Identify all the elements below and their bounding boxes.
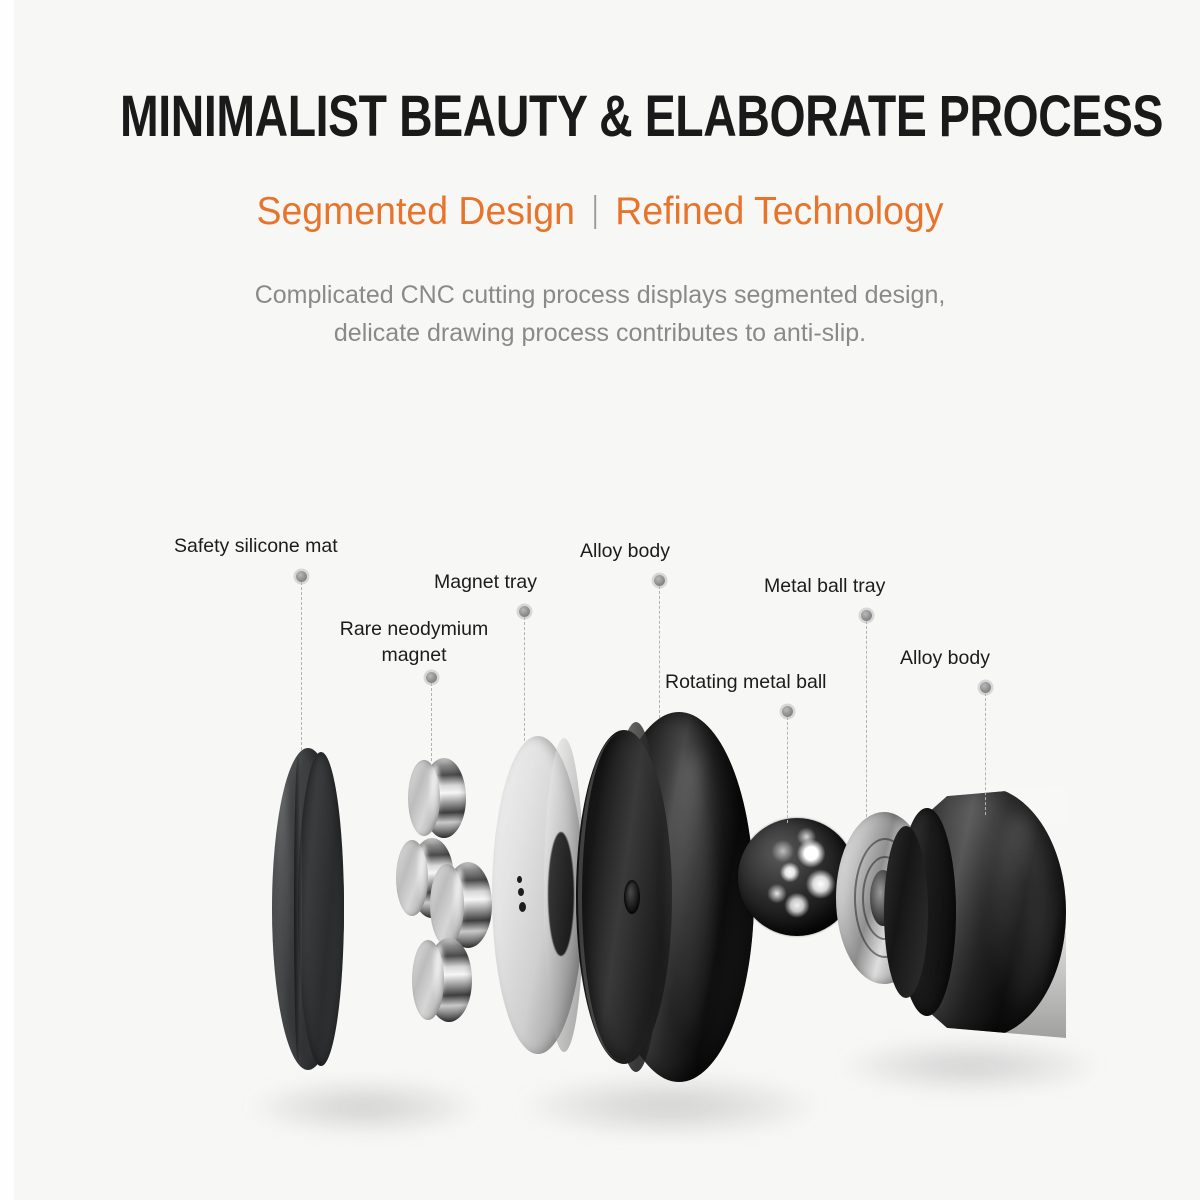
cone-front-face — [884, 826, 928, 998]
cone-highlight — [994, 812, 1050, 1012]
mat-rim — [298, 752, 344, 1066]
callout-dot-alloy-body-cup — [654, 575, 665, 586]
part-silicone-mat — [272, 748, 344, 1070]
callout-leader-rare-neodymium-magnet — [431, 683, 432, 761]
shadow-center — [520, 1075, 820, 1137]
callout-leader-magnet-tray — [524, 617, 525, 741]
callout-dot-rare-neodymium-magnet — [426, 672, 437, 683]
shadow-left — [250, 1080, 480, 1134]
tray-cutout — [548, 832, 574, 956]
magnet-shine — [430, 764, 440, 828]
callout-leader-safety-silicone-mat — [301, 582, 302, 750]
mat-groove — [294, 757, 302, 1061]
callout-label-alloy-body-cup: Alloy body — [580, 539, 670, 564]
callout-label-magnet-tray: Magnet tray — [434, 570, 537, 595]
callout-label-safety-silicone-mat: Safety silicone mat — [174, 534, 338, 559]
part-magnet-tray — [492, 736, 584, 1054]
part-alloy-body-cone — [876, 786, 1066, 1038]
callout-label-alloy-body-cone: Alloy body — [900, 646, 990, 671]
shadow-right — [840, 1040, 1100, 1092]
callout-leader-alloy-body-cup — [659, 586, 660, 718]
callout-dot-alloy-body-cone — [980, 682, 991, 693]
callout-label-metal-ball-tray: Metal ball tray — [764, 574, 885, 599]
exploded-view-diagram: Safety silicone mat Rare neodymium magne… — [0, 0, 1200, 1200]
tray-slot-2 — [518, 888, 524, 896]
callout-dot-metal-ball-tray — [861, 610, 872, 621]
callout-dot-rotating-metal-ball — [782, 706, 793, 717]
cup-lip — [578, 734, 662, 1060]
callout-leader-alloy-body-cone — [985, 693, 986, 815]
callout-dot-magnet-tray — [519, 606, 530, 617]
callout-leader-rotating-metal-ball — [787, 717, 788, 823]
callout-dot-safety-silicone-mat — [296, 571, 307, 582]
magnet-shine — [454, 868, 464, 938]
part-alloy-body-cup — [576, 712, 754, 1082]
tray-slot-1 — [517, 876, 522, 883]
callout-label-rare-neodymium-magnet: Rare neodymium magnet — [328, 616, 500, 668]
tray-slot-3 — [519, 902, 526, 912]
callout-label-rotating-metal-ball: Rotating metal ball — [665, 670, 827, 695]
cup-highlight — [672, 752, 712, 1042]
magnet-shine — [418, 844, 428, 908]
callout-leader-metal-ball-tray — [866, 621, 867, 817]
magnet-shine — [434, 944, 444, 1012]
infographic-page: MINIMALIST BEAUTY & ELABORATE PROCESS Se… — [0, 0, 1200, 1200]
mat-highlight — [276, 776, 290, 1026]
cup-center-hole — [624, 880, 640, 914]
